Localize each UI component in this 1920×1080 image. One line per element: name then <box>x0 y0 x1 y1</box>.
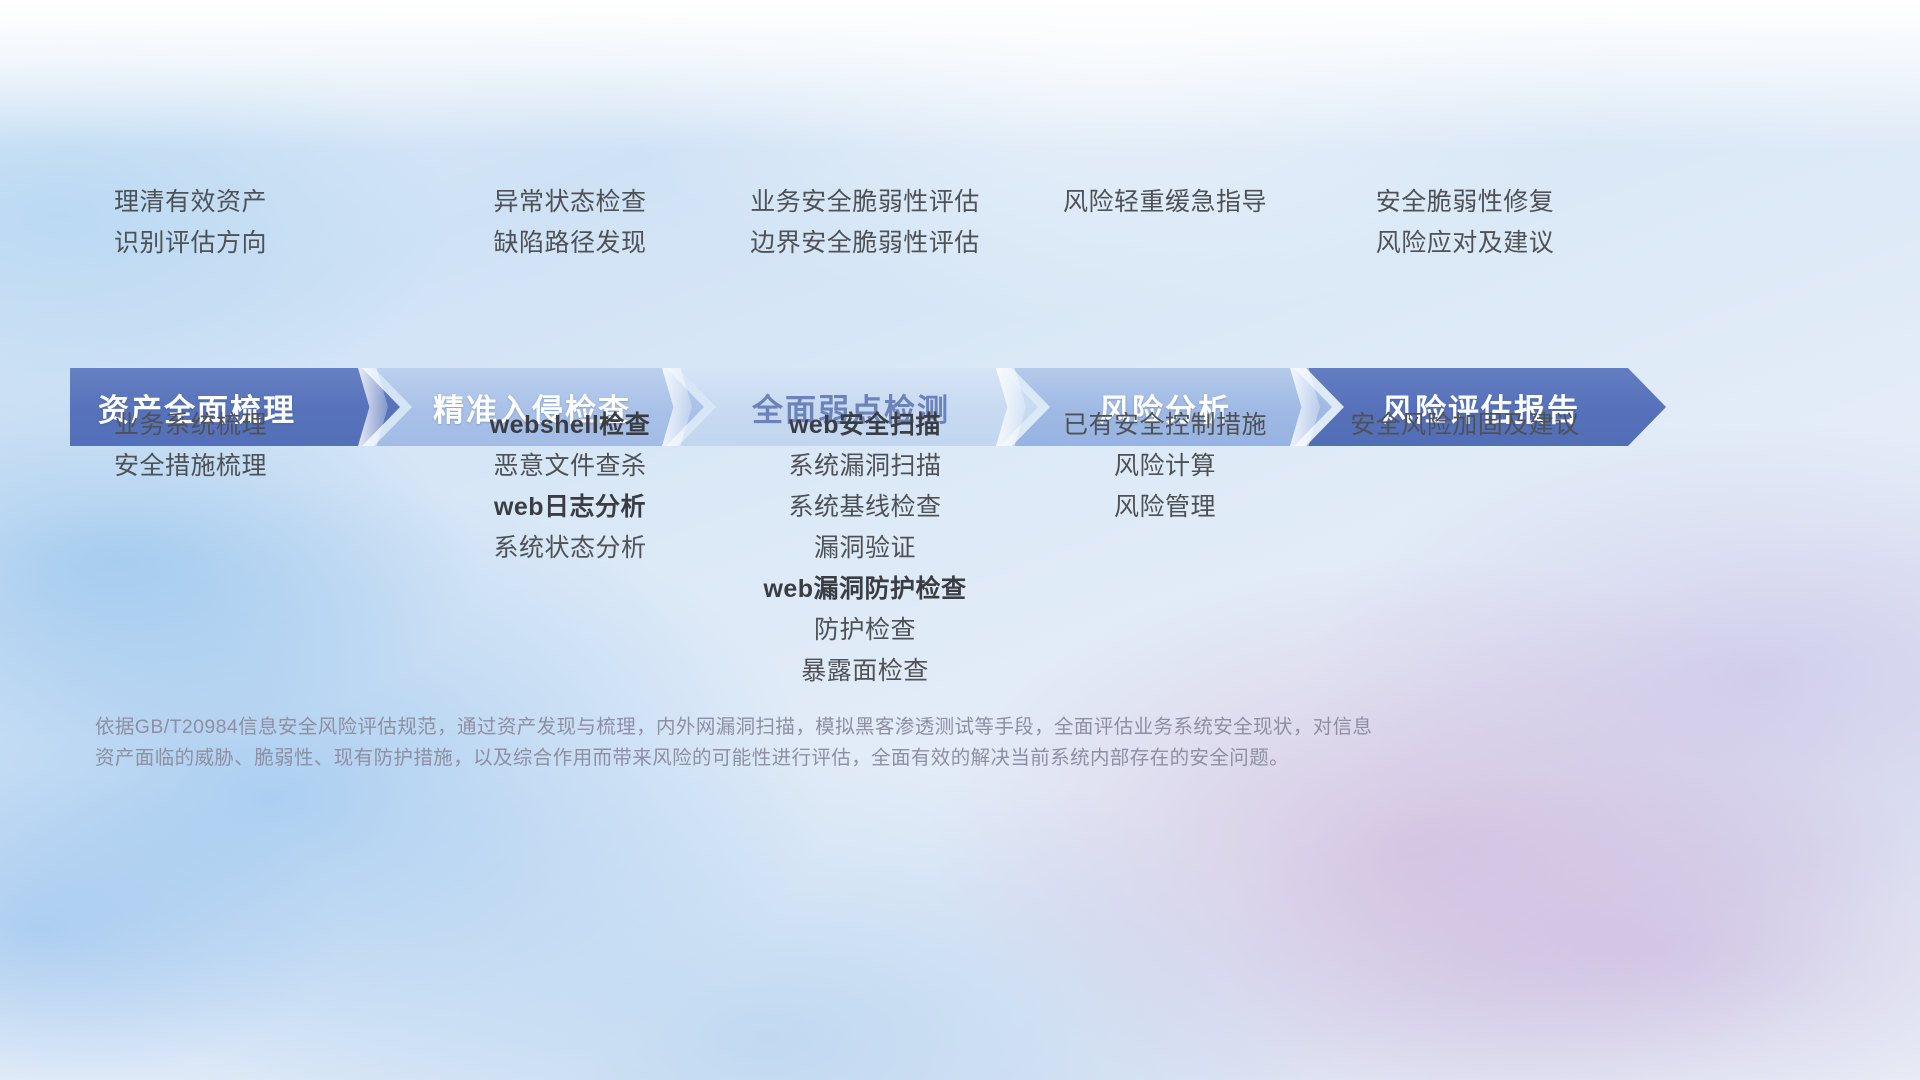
top-note: 缺陷路径发现 <box>493 223 646 264</box>
bottom-note: 业务系统梳理 <box>114 405 267 446</box>
footer-description: 依据GB/T20984信息安全风险评估规范，通过资产发现与梳理，内外网漏洞扫描，… <box>95 712 1695 774</box>
bottom-note: 防护检查 <box>814 610 916 651</box>
top-note: 安全脆弱性修复 <box>1376 182 1555 223</box>
bottom-note: 风险计算 <box>1114 446 1216 487</box>
top-note: 识别评估方向 <box>114 223 267 264</box>
top-note: 异常状态检查 <box>493 182 646 223</box>
bottom-note: web安全扫描 <box>789 405 941 446</box>
top-notes-column-3: 业务安全脆弱性评估 边界安全脆弱性评估 <box>715 182 1015 264</box>
bottom-note: webshell检查 <box>490 405 651 446</box>
bottom-note: 系统基线检查 <box>788 487 941 528</box>
top-note: 风险轻重缓急指导 <box>1063 182 1267 223</box>
bottom-note: 漏洞验证 <box>814 528 916 569</box>
bottom-note: 系统漏洞扫描 <box>788 446 941 487</box>
bottom-note: 风险管理 <box>1114 487 1216 528</box>
top-notes-column-2: 异常状态检查 缺陷路径发现 <box>425 182 715 264</box>
bottom-note: 安全风险加固及建议 <box>1350 405 1580 446</box>
top-notes-column-5: 安全脆弱性修复 风险应对及建议 <box>1315 182 1615 264</box>
bottom-note: 安全措施梳理 <box>114 446 267 487</box>
bottom-notes-column-2: webshell检查 恶意文件查杀 web日志分析 系统状态分析 <box>425 405 715 692</box>
top-note: 边界安全脆弱性评估 <box>750 223 980 264</box>
top-note: 理清有效资产 <box>114 182 267 223</box>
bottom-note: web日志分析 <box>494 487 646 528</box>
footer-line-1: 依据GB/T20984信息安全风险评估规范，通过资产发现与梳理，内外网漏洞扫描，… <box>95 712 1695 743</box>
bottom-note: 已有安全控制措施 <box>1063 405 1267 446</box>
bottom-note: web漏洞防护检查 <box>763 569 966 610</box>
bottom-note: 系统状态分析 <box>493 528 646 569</box>
bottom-notes-row: 业务系统梳理 安全措施梳理 webshell检查 恶意文件查杀 web日志分析 … <box>90 405 1850 692</box>
slide-canvas: 理清有效资产 识别评估方向 异常状态检查 缺陷路径发现 业务安全脆弱性评估 边界… <box>0 0 1920 1080</box>
top-note: 风险应对及建议 <box>1376 223 1555 264</box>
bottom-notes-column-3: web安全扫描 系统漏洞扫描 系统基线检查 漏洞验证 web漏洞防护检查 防护检… <box>715 405 1015 692</box>
top-note: 业务安全脆弱性评估 <box>750 182 980 223</box>
top-notes-row: 理清有效资产 识别评估方向 异常状态检查 缺陷路径发现 业务安全脆弱性评估 边界… <box>90 182 1850 264</box>
top-notes-column-4: 风险轻重缓急指导 <box>1015 182 1315 264</box>
top-notes-column-1: 理清有效资产 识别评估方向 <box>90 182 425 264</box>
bottom-notes-column-5: 安全风险加固及建议 <box>1315 405 1615 692</box>
bottom-notes-column-1: 业务系统梳理 安全措施梳理 <box>90 405 425 692</box>
bottom-notes-column-4: 已有安全控制措施 风险计算 风险管理 <box>1015 405 1315 692</box>
bottom-note: 恶意文件查杀 <box>493 446 646 487</box>
bottom-note: 暴露面检查 <box>801 651 929 692</box>
footer-line-2: 资产面临的威胁、脆弱性、现有防护措施，以及综合作用而带来风险的可能性进行评估，全… <box>95 743 1695 774</box>
